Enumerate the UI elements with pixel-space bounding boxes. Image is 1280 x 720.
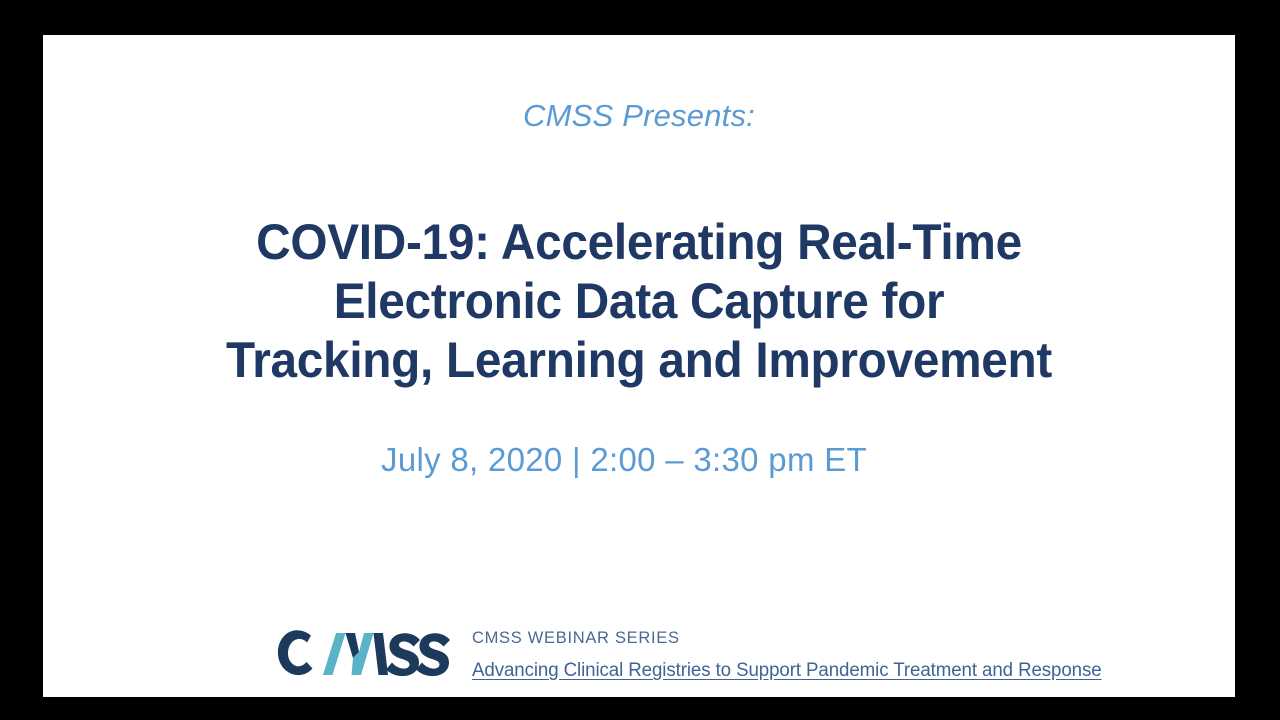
title-line-3: Tracking, Learning and Improvement [70,331,1208,390]
slide-datetime: July 8, 2020 | 2:00 – 3:30 pm ET [43,440,1235,480]
slide-letterbox-stage: CMSS Presents: COVID-19: Accelerating Re… [0,0,1280,720]
title-line-1: COVID-19: Accelerating Real-Time [70,213,1208,272]
slide-eyebrow: CMSS Presents: [43,98,1235,134]
footer-text-block: CMSS WEBINAR SERIES Advancing Clinical R… [450,625,1111,682]
slide-title: COVID-19: Accelerating Real-Time Electro… [43,213,1235,390]
title-line-2: Electronic Data Capture for [70,272,1208,331]
webinar-series-label: CMSS WEBINAR SERIES [472,628,1111,648]
cmss-logo-icon [275,627,450,679]
webinar-series-tagline[interactable]: Advancing Clinical Registries to Support… [472,659,1102,682]
slide-footer: CMSS WEBINAR SERIES Advancing Clinical R… [275,625,1075,687]
presentation-slide: CMSS Presents: COVID-19: Accelerating Re… [43,35,1235,697]
